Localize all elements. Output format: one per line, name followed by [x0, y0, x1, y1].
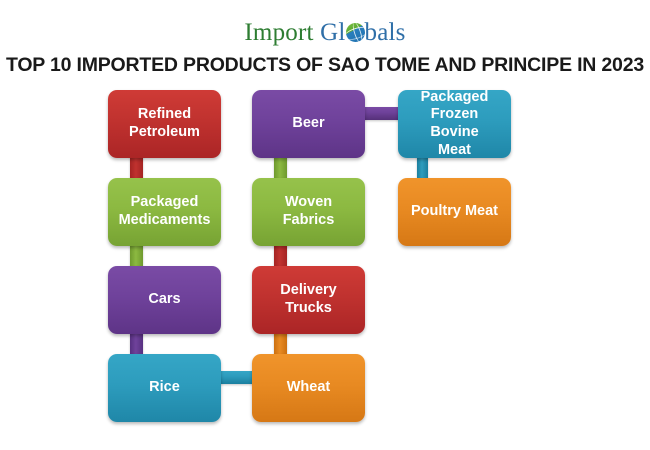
node-woven-fabrics[interactable]: Woven Fabrics [252, 178, 365, 246]
flow-diagram: Refined Petroleum Packaged Medicaments C… [0, 0, 650, 450]
node-beer[interactable]: Beer [252, 90, 365, 158]
node-poultry-meat[interactable]: Poultry Meat [398, 178, 511, 246]
node-delivery-trucks[interactable]: Delivery Trucks [252, 266, 365, 334]
node-cars[interactable]: Cars [108, 266, 221, 334]
node-wheat[interactable]: Wheat [252, 354, 365, 422]
node-packaged-frozen-bovine-meat[interactable]: Packaged Frozen Bovine Meat [398, 90, 511, 158]
node-refined-petroleum[interactable]: Refined Petroleum [108, 90, 221, 158]
node-packaged-medicaments[interactable]: Packaged Medicaments [108, 178, 221, 246]
node-rice[interactable]: Rice [108, 354, 221, 422]
